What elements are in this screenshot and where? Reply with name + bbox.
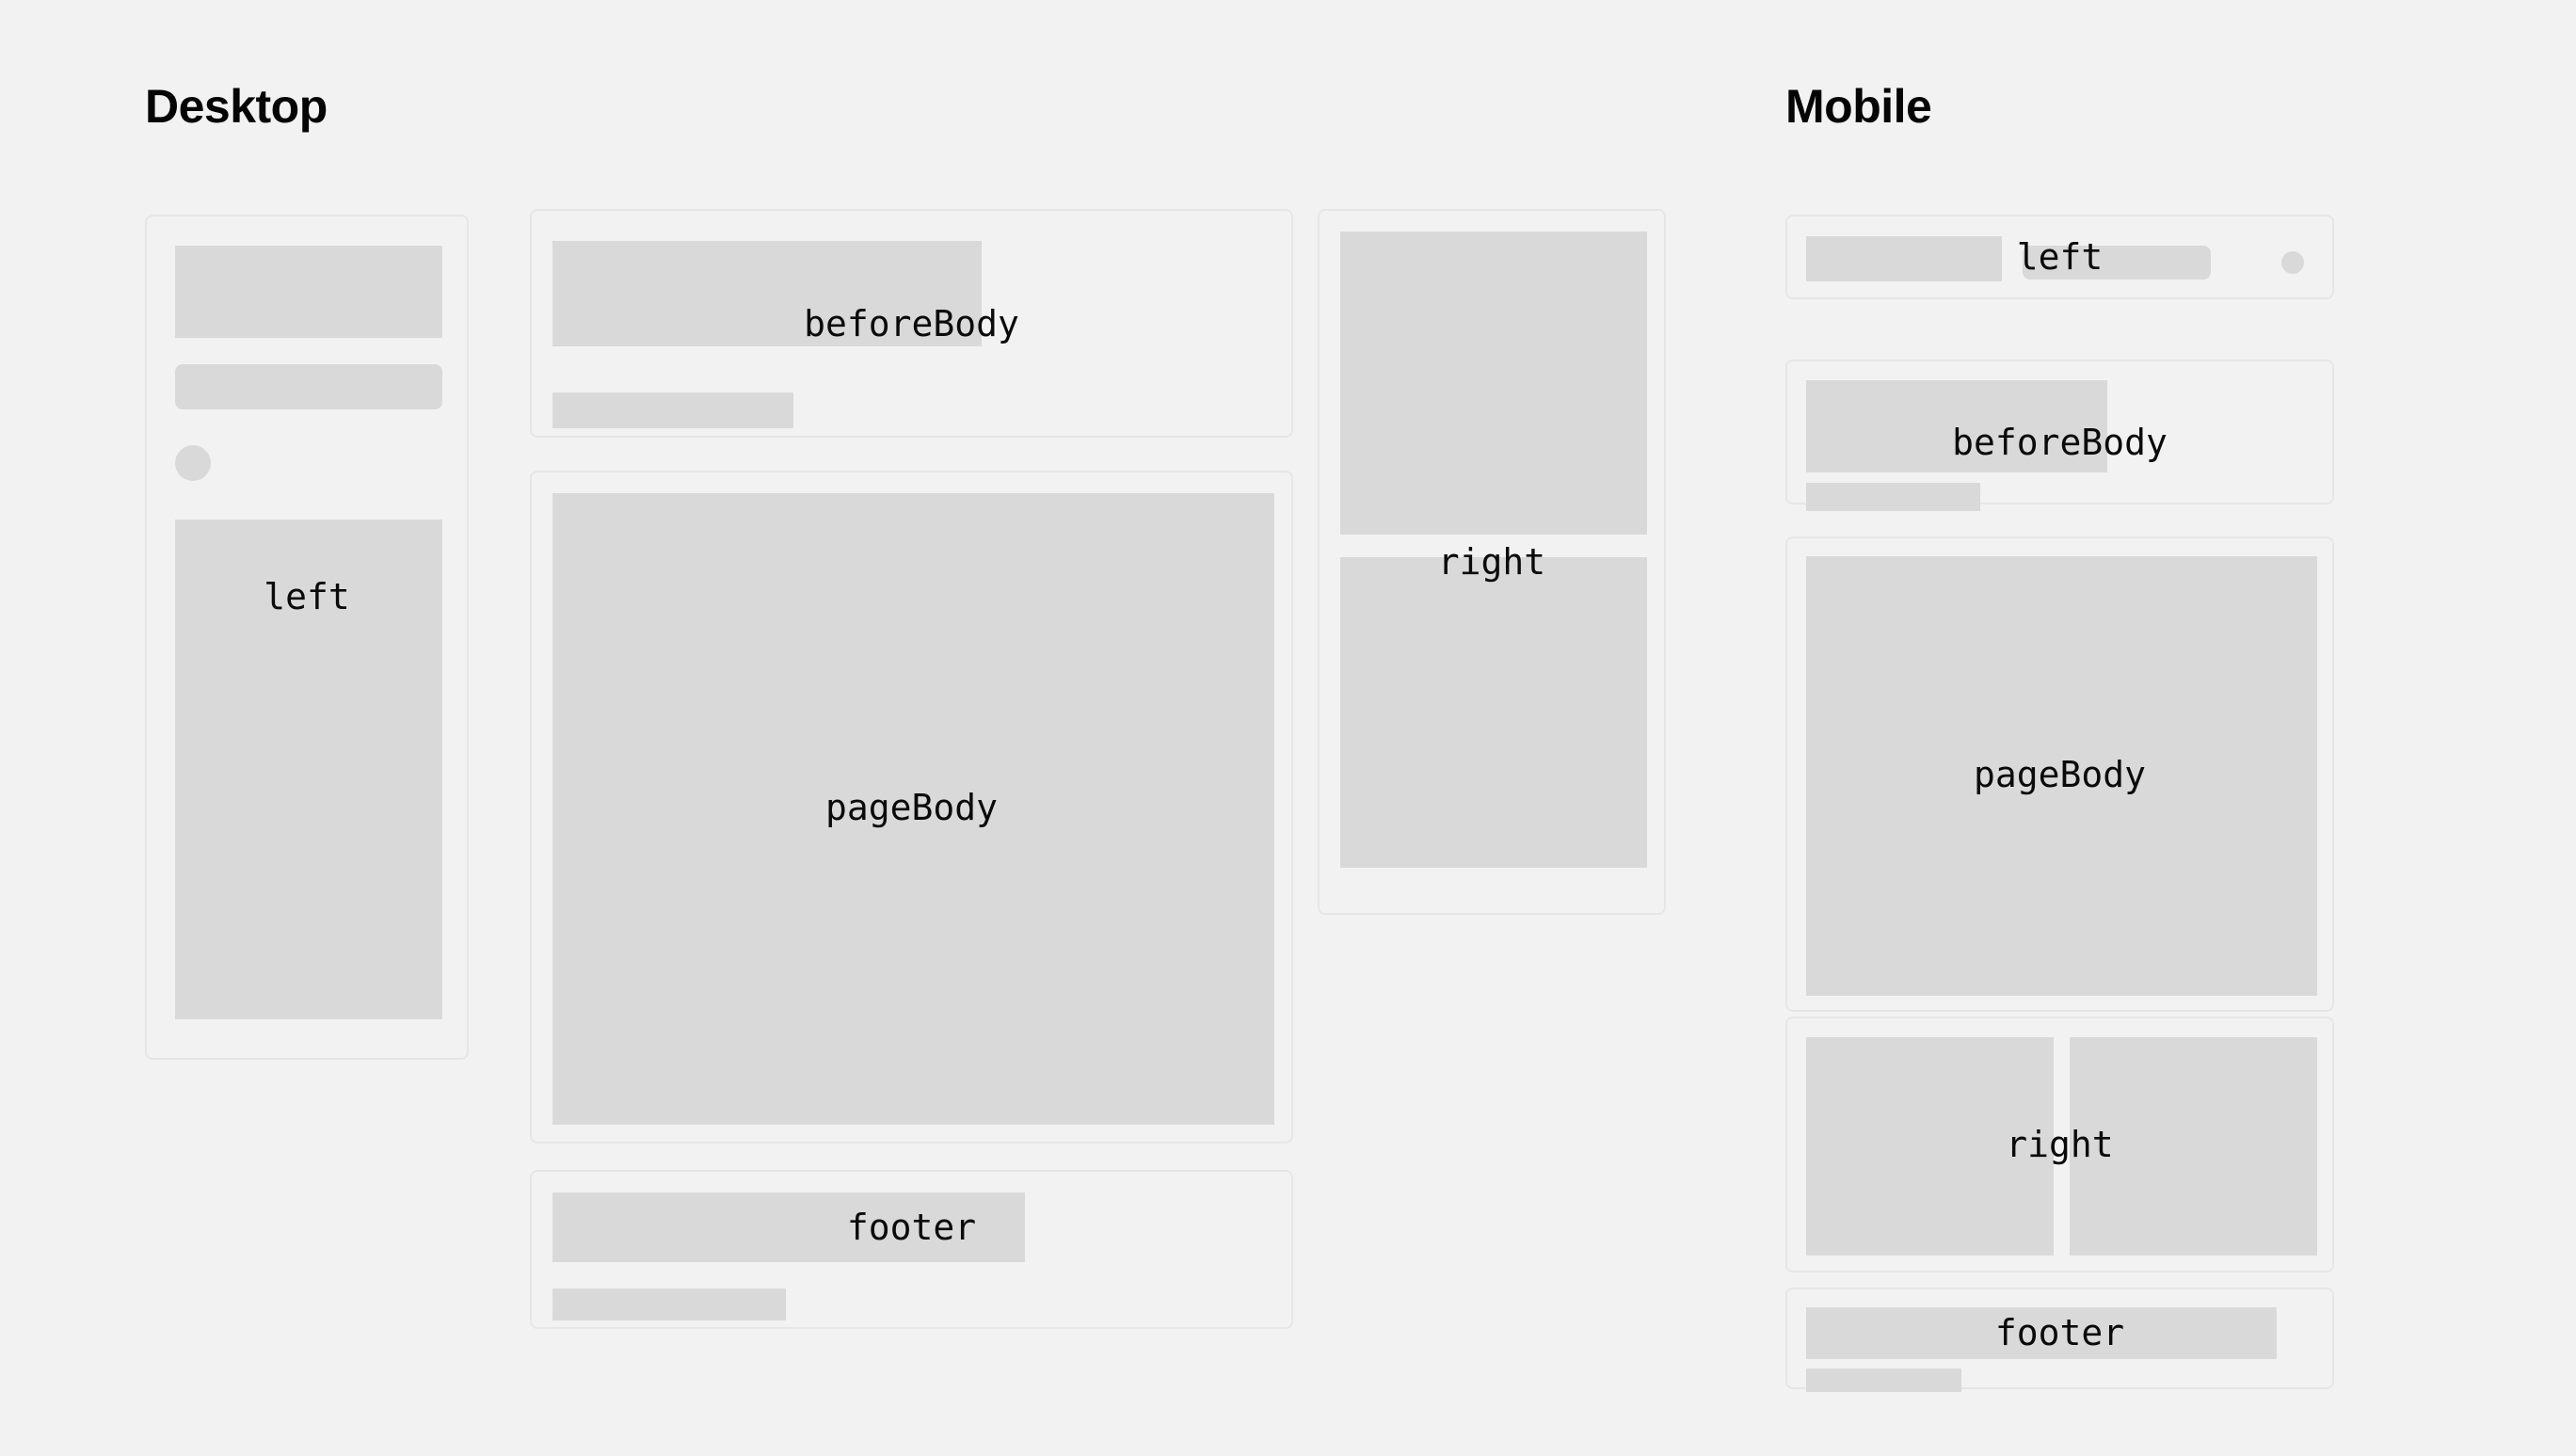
skeleton-block <box>1806 556 2317 996</box>
skeleton-block <box>552 1192 1025 1262</box>
skeleton-block <box>1806 380 2107 472</box>
skeleton-block-rounded <box>2023 246 2211 280</box>
skeleton-block <box>1806 483 1980 511</box>
skeleton-block <box>552 241 982 346</box>
desktop-left-slot-panel[interactable]: left <box>145 215 469 1060</box>
skeleton-block <box>1340 557 1647 868</box>
desktop-footer-slot-panel[interactable]: footer <box>530 1170 1293 1329</box>
skeleton-block <box>552 493 1274 1125</box>
skeleton-block <box>1806 1307 2277 1359</box>
desktop-right-slot-panel[interactable]: right <box>1318 209 1666 915</box>
skeleton-block <box>552 1288 786 1320</box>
mobile-section-heading: Mobile <box>1785 83 1931 130</box>
mobile-footer-slot-panel[interactable]: footer <box>1785 1288 2334 1389</box>
desktop-section-heading: Desktop <box>145 83 328 130</box>
mobile-right-slot-panel[interactable]: right <box>1785 1016 2334 1272</box>
mobile-pagebody-slot-panel[interactable]: pageBody <box>1785 536 2334 1012</box>
mobile-beforebody-slot-panel[interactable]: beforeBody <box>1785 360 2334 504</box>
skeleton-block <box>175 520 442 1019</box>
skeleton-dot <box>175 445 211 481</box>
skeleton-block <box>1806 1368 1961 1392</box>
skeleton-block <box>175 246 442 338</box>
skeleton-block <box>1806 236 2002 281</box>
skeleton-block <box>2070 1037 2317 1256</box>
mobile-left-slot-panel[interactable]: left <box>1785 215 2334 299</box>
skeleton-block <box>1340 232 1647 535</box>
desktop-pagebody-slot-panel[interactable]: pageBody <box>530 471 1293 1144</box>
skeleton-block <box>552 392 793 428</box>
skeleton-block-rounded <box>175 364 442 409</box>
skeleton-block <box>1806 1037 2054 1256</box>
desktop-beforebody-slot-panel[interactable]: beforeBody <box>530 209 1293 438</box>
skeleton-dot <box>2281 251 2304 274</box>
